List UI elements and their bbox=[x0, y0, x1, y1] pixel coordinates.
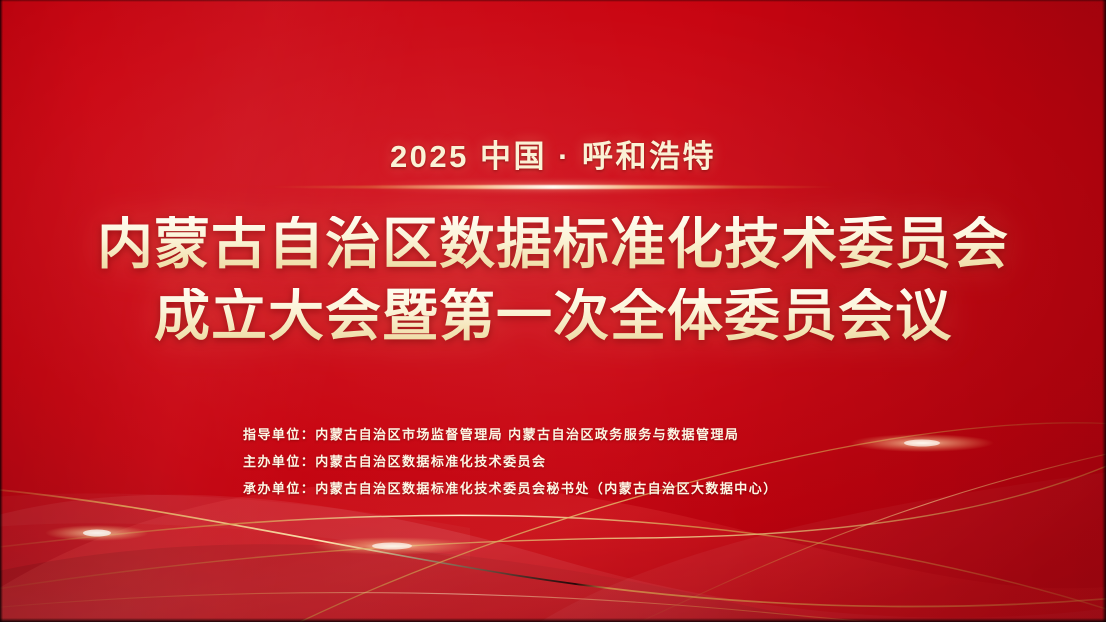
title-divider bbox=[267, 185, 839, 189]
organizer-undertaker: 承办单位：内蒙古自治区数据标准化技术委员会秘书处（内蒙古自治区大数据中心） bbox=[243, 475, 778, 502]
edge-bottom bbox=[0, 618, 1106, 622]
page-title-line-2: 成立大会暨第一次全体委员会议 bbox=[0, 288, 1106, 344]
banner-content: 2025 中国 · 呼和浩特 内蒙古自治区数据标准化技术委员会 成立大会暨第一次… bbox=[0, 0, 1106, 622]
organizer-list: 指导单位：内蒙古自治区市场监督管理局 内蒙古自治区政务服务与数据管理局 主办单位… bbox=[243, 421, 778, 502]
page-title-line-1: 内蒙古自治区数据标准化技术委员会 bbox=[0, 216, 1106, 272]
event-year-location: 2025 中国 · 呼和浩特 bbox=[0, 131, 1106, 176]
edge-left bbox=[0, 0, 3, 622]
organizer-guidance: 指导单位：内蒙古自治区市场监督管理局 内蒙古自治区政务服务与数据管理局 bbox=[243, 421, 778, 448]
edge-top bbox=[0, 0, 1106, 2]
conference-banner: 2025 中国 · 呼和浩特 内蒙古自治区数据标准化技术委员会 成立大会暨第一次… bbox=[0, 0, 1106, 622]
organizer-host: 主办单位：内蒙古自治区数据标准化技术委员会 bbox=[243, 448, 778, 475]
edge-right bbox=[1102, 0, 1106, 622]
